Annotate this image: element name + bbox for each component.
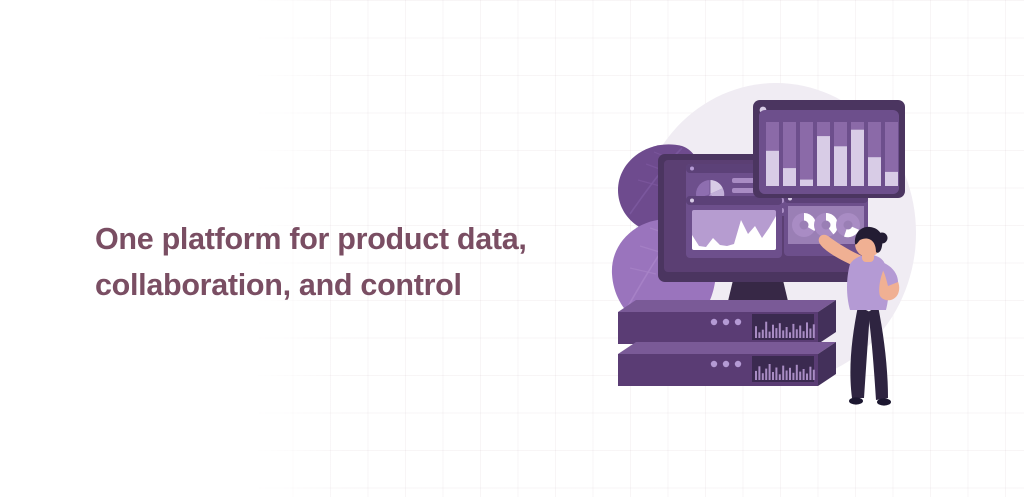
floating-bar-chart [759, 110, 899, 194]
area-chart-panel [686, 196, 782, 258]
page-title: One platform for product data, collabora… [95, 216, 615, 308]
hero-illustration [596, 68, 936, 416]
hero-banner: One platform for product data, collabora… [0, 0, 1024, 497]
server-bottom [618, 342, 836, 386]
floating-bar-chart-panel [753, 100, 905, 198]
donut-chart-2 [814, 213, 838, 237]
donut-chart-1 [792, 213, 816, 237]
illustration-svg [596, 68, 936, 416]
server-top [618, 300, 836, 344]
